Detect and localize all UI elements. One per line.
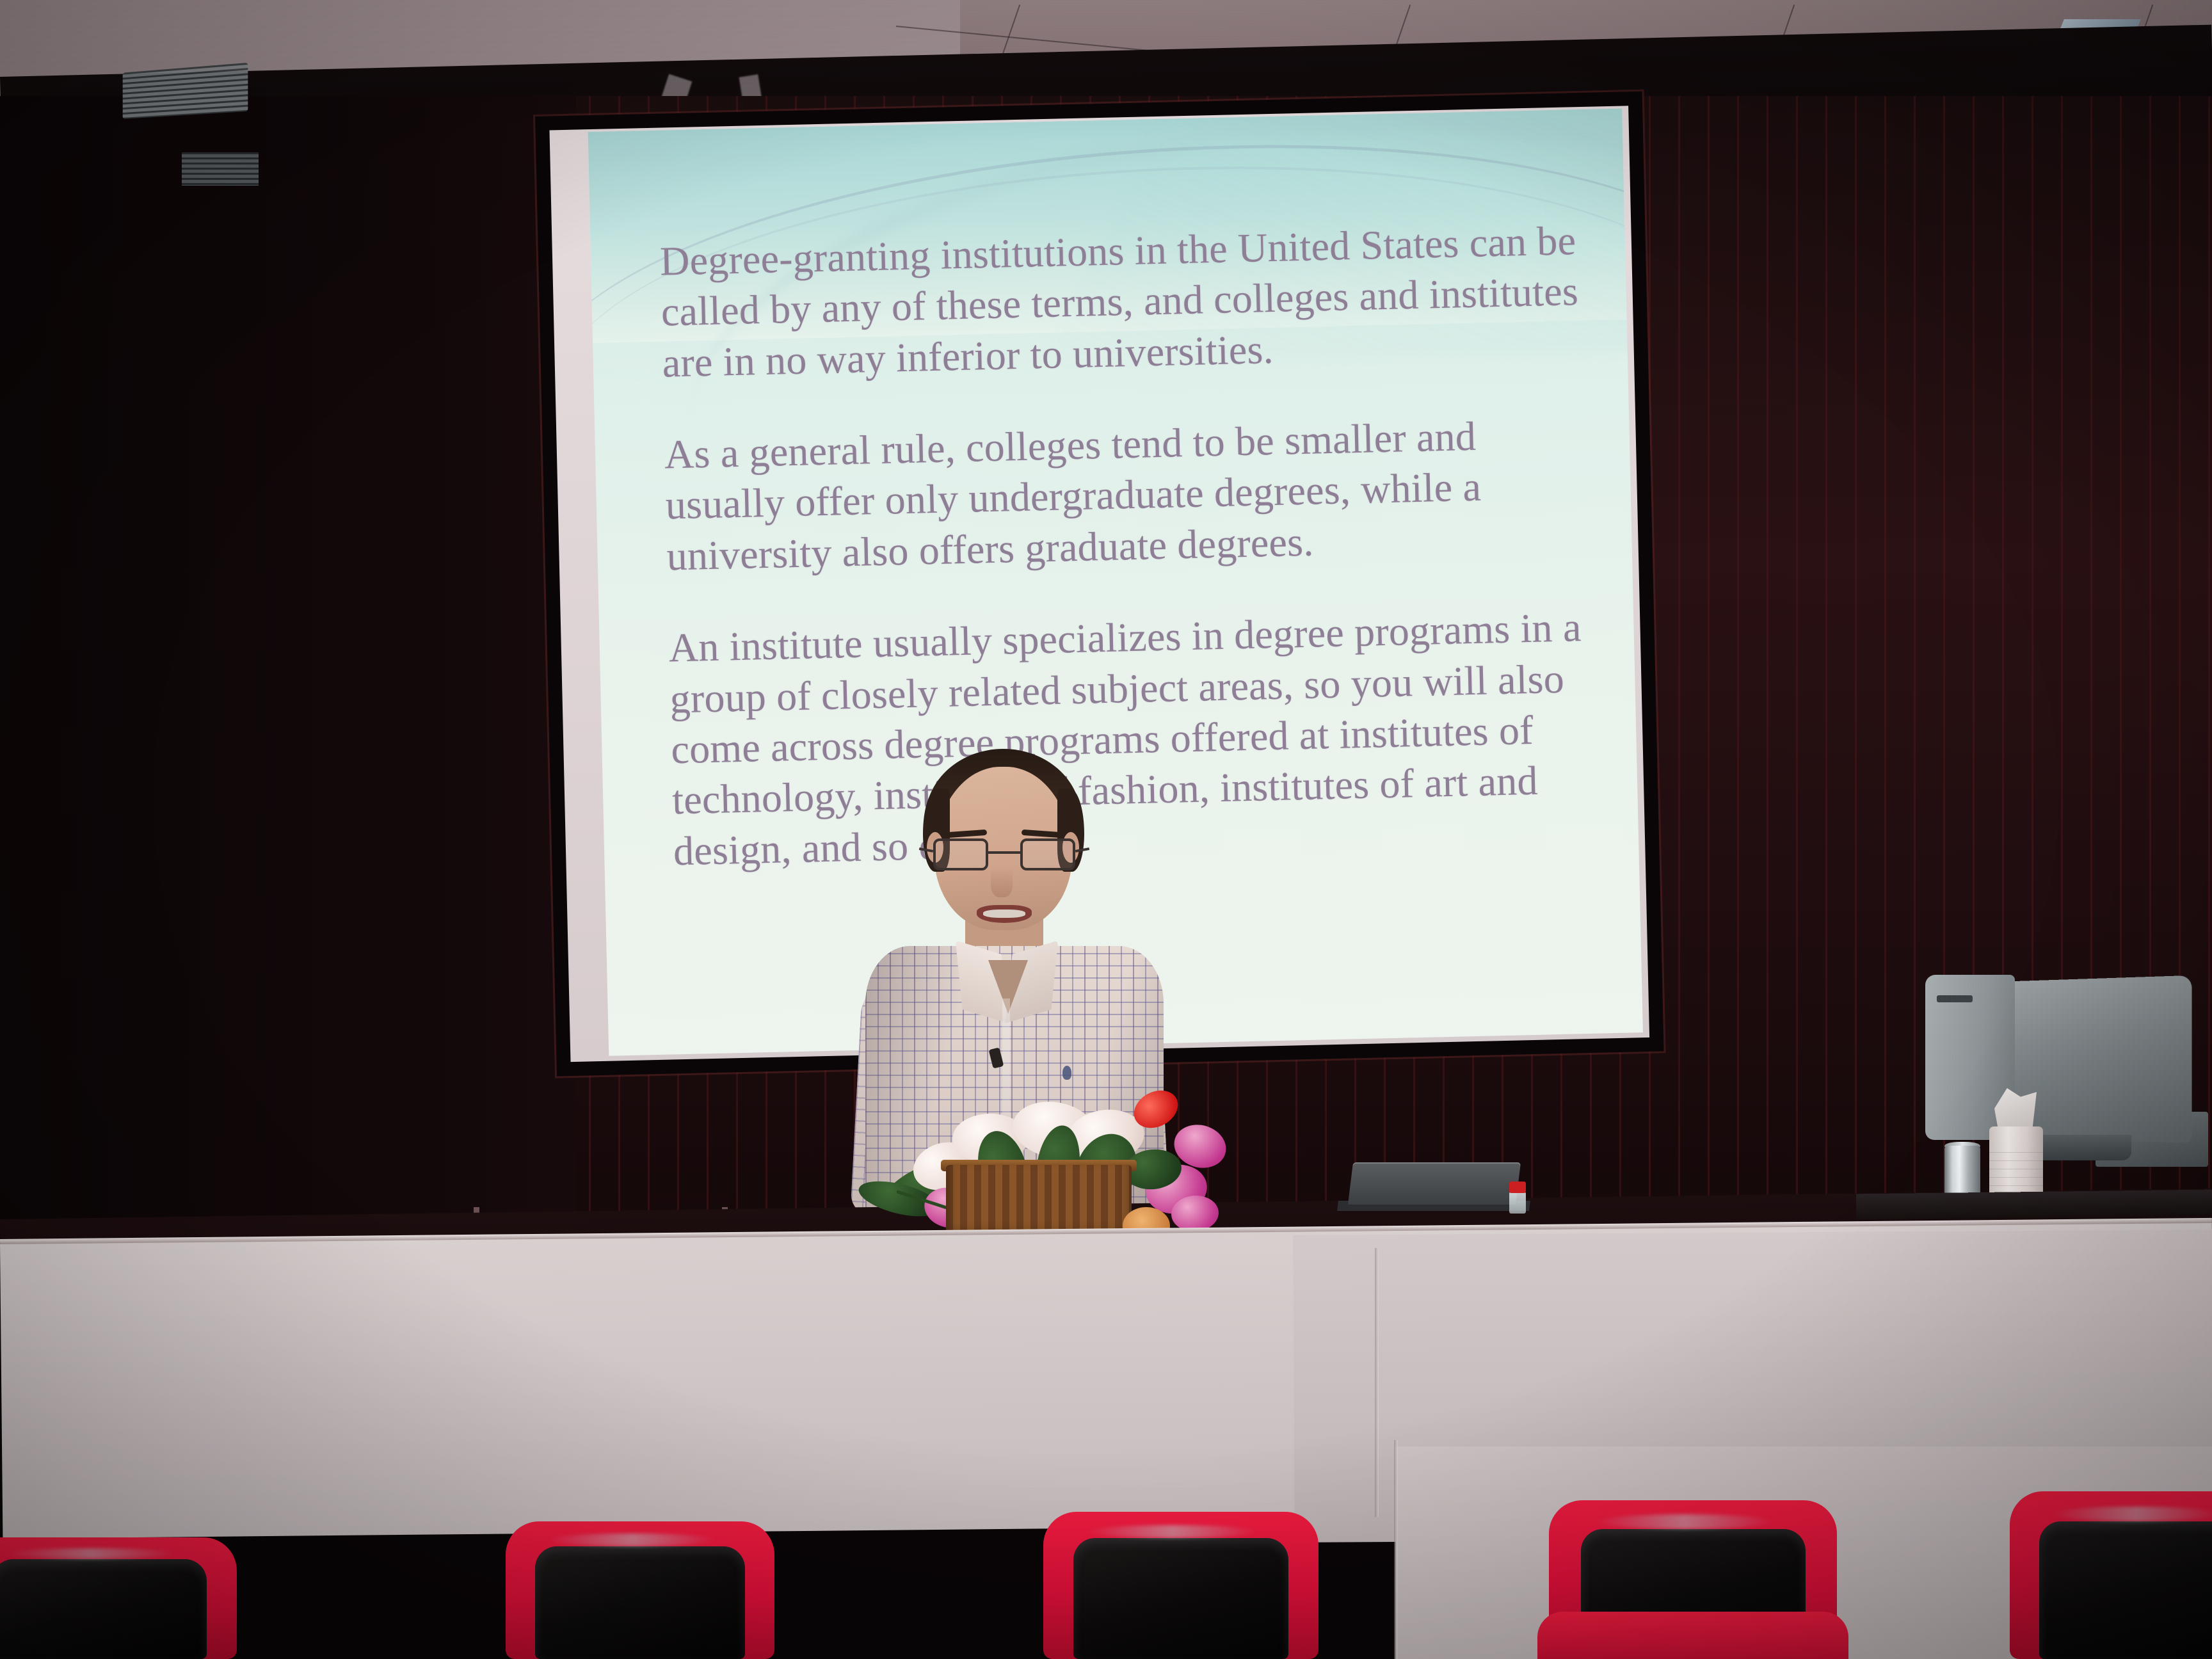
- slide-paragraph-2: As a general rule, colleges tend to be s…: [664, 408, 1587, 582]
- auditorium-chair[interactable]: [506, 1521, 774, 1659]
- right-table-edge: [1856, 1190, 2212, 1220]
- auditorium-chair[interactable]: [2010, 1491, 2212, 1659]
- chair-highlight: [549, 1534, 715, 1546]
- chair-backrest-pad: [1073, 1538, 1288, 1659]
- barrier-seam: [1375, 1248, 1379, 1517]
- photo-scene: Degree-granting institutions in the Unit…: [0, 0, 2212, 1659]
- flower-basket-arrangement: [787, 1088, 1229, 1242]
- water-bottle: [1509, 1192, 1526, 1214]
- eyeglass-lens-left: [933, 838, 988, 870]
- bottle-cap-icon: [1509, 1182, 1526, 1193]
- chair-backrest-pad: [0, 1559, 207, 1659]
- chair-backrest-pad: [2039, 1521, 2212, 1659]
- presenter-nose: [991, 868, 1013, 897]
- crt-monitor-vents: [123, 63, 248, 119]
- auditorium-chair[interactable]: [1043, 1512, 1318, 1659]
- presenter-head-shadow: [1265, 1054, 1462, 1056]
- eyeglass-bridge: [988, 851, 1020, 854]
- back-wall-left-shadow: [0, 96, 576, 1248]
- presenter-teeth: [983, 910, 1025, 918]
- slide-paragraph-1: Degree-granting institutions in the Unit…: [659, 215, 1583, 389]
- auditorium-chair-row: [0, 1491, 2212, 1659]
- chair-highlight: [1595, 1514, 1774, 1528]
- shirt-pocket-emblem: [1062, 1066, 1071, 1080]
- equipment-box-vents: [182, 152, 259, 186]
- chair-seat-cushion: [1537, 1612, 1848, 1659]
- eyeglass-lens-right: [1020, 838, 1075, 870]
- auditorium-chair[interactable]: [0, 1537, 237, 1659]
- laptop-lid[interactable]: [1348, 1162, 1521, 1205]
- presenter-mouth: [977, 905, 1032, 923]
- auditorium-chair[interactable]: [1549, 1500, 1837, 1659]
- chair-highlight: [2053, 1507, 2212, 1522]
- crt-monitor-vent-slot: [1937, 995, 1973, 1002]
- chair-backrest-pad: [535, 1546, 745, 1659]
